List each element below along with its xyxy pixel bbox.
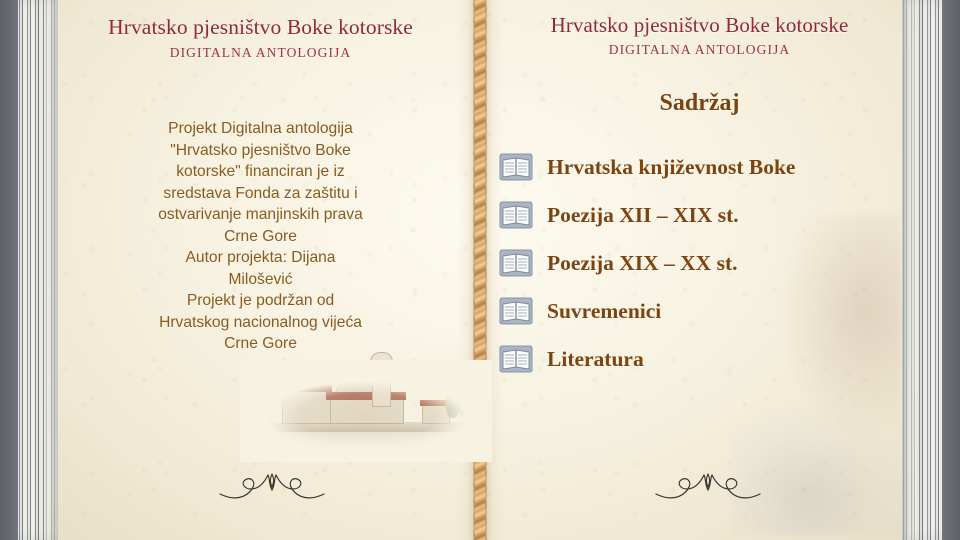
toc-item-label: Poezija XIX – XX st. xyxy=(547,251,737,276)
flourish-ornament xyxy=(652,470,764,504)
toc-item-poezija-xix-xx[interactable]: Poezija XIX – XX st. xyxy=(499,239,906,287)
island-church-photo xyxy=(240,360,492,462)
description-line: Projekt Digitalna antologija xyxy=(64,118,457,140)
description-line: Crne Gore xyxy=(64,333,457,355)
photo-roof xyxy=(326,392,406,400)
description-line: Hrvatskog nacionalnog vijeća xyxy=(64,312,457,334)
open-book-icon xyxy=(499,200,533,230)
photo-sea xyxy=(250,422,482,446)
description-line: Milošević xyxy=(64,269,457,291)
photo-roof xyxy=(420,400,450,406)
description-line: Crne Gore xyxy=(64,226,457,248)
toc-item-poezija-xii-xix[interactable]: Poezija XII – XIX st. xyxy=(499,191,906,239)
description-line: sredstava Fonda za zaštitu i xyxy=(64,183,457,205)
photo-quay xyxy=(254,423,474,432)
right-page-subtitle: DIGITALNA ANTOLOGIJA xyxy=(483,42,916,58)
description-line: Projekt je podržan od xyxy=(64,290,457,312)
description-line: "Hrvatsko pjesništvo Boke xyxy=(64,140,457,162)
photo-tree xyxy=(458,392,469,416)
toc-item-label: Poezija XII – XIX st. xyxy=(547,203,739,228)
description-line: kotorske" financiran je iz xyxy=(64,161,457,183)
toc-item-literatura[interactable]: Literatura xyxy=(499,335,906,383)
photo-building xyxy=(282,388,332,424)
photo-roof xyxy=(280,385,332,392)
toc-item-hrvatska-knjizevnost-boke[interactable]: Hrvatska književnost Boke xyxy=(499,143,906,191)
photo-dome xyxy=(334,378,376,402)
toc-item-label: Hrvatska književnost Boke xyxy=(547,155,795,180)
toc-item-suvremenici[interactable]: Suvremenici xyxy=(499,287,906,335)
contents-heading: Sadržaj xyxy=(483,90,916,117)
left-page-header: Hrvatsko pjesništvo Boke kotorske DIGITA… xyxy=(44,16,477,61)
photo-building xyxy=(330,396,404,424)
left-page-title: Hrvatsko pjesništvo Boke kotorske xyxy=(44,16,477,40)
photo-bell-tower xyxy=(372,361,391,407)
left-page-subtitle: DIGITALNA ANTOLOGIJA xyxy=(44,45,477,61)
slide-canvas: Hrvatsko pjesništvo Boke kotorske DIGITA… xyxy=(0,0,960,540)
photo-building xyxy=(422,402,450,424)
open-book-icon xyxy=(499,296,533,326)
photo-vignette xyxy=(240,360,492,462)
left-page: Hrvatsko pjesništvo Boke kotorske DIGITA… xyxy=(44,0,477,540)
description-line: Autor projekta: Dijana xyxy=(64,247,457,269)
toc-item-label: Literatura xyxy=(547,347,644,372)
right-page-header: Hrvatsko pjesništvo Boke kotorske DIGITA… xyxy=(483,14,916,58)
description-line: ostvarivanje manjinskih prava xyxy=(64,204,457,226)
right-page: Hrvatsko pjesništvo Boke kotorske DIGITA… xyxy=(483,0,916,540)
project-description: Projekt Digitalna antologija "Hrvatsko p… xyxy=(64,118,457,355)
open-book-icon xyxy=(499,152,533,182)
open-book: Hrvatsko pjesništvo Boke kotorske DIGITA… xyxy=(18,0,942,540)
right-page-title: Hrvatsko pjesništvo Boke kotorske xyxy=(483,14,916,37)
open-book-icon xyxy=(499,248,533,278)
flourish-ornament xyxy=(216,470,328,504)
toc-item-label: Suvremenici xyxy=(547,299,661,324)
table-of-contents: Hrvatska književnost Boke xyxy=(499,143,906,383)
open-book-icon xyxy=(499,344,533,374)
photo-tree xyxy=(446,388,459,418)
